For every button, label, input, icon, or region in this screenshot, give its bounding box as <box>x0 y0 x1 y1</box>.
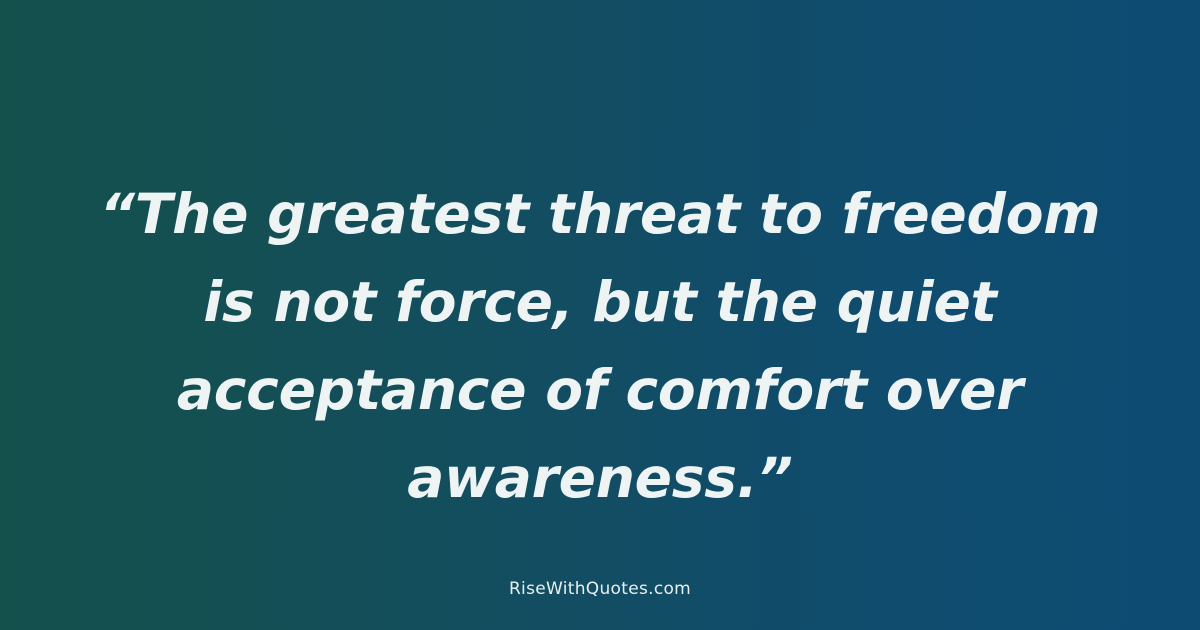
quote-card: “The greatest threat to freedom is not f… <box>0 0 1200 630</box>
footer: RiseWithQuotes.com <box>0 578 1200 600</box>
site-name-label: RiseWithQuotes.com <box>509 578 691 600</box>
quote-block: “The greatest threat to freedom is not f… <box>70 170 1130 522</box>
quote-text: “The greatest threat to freedom is not f… <box>70 170 1130 522</box>
